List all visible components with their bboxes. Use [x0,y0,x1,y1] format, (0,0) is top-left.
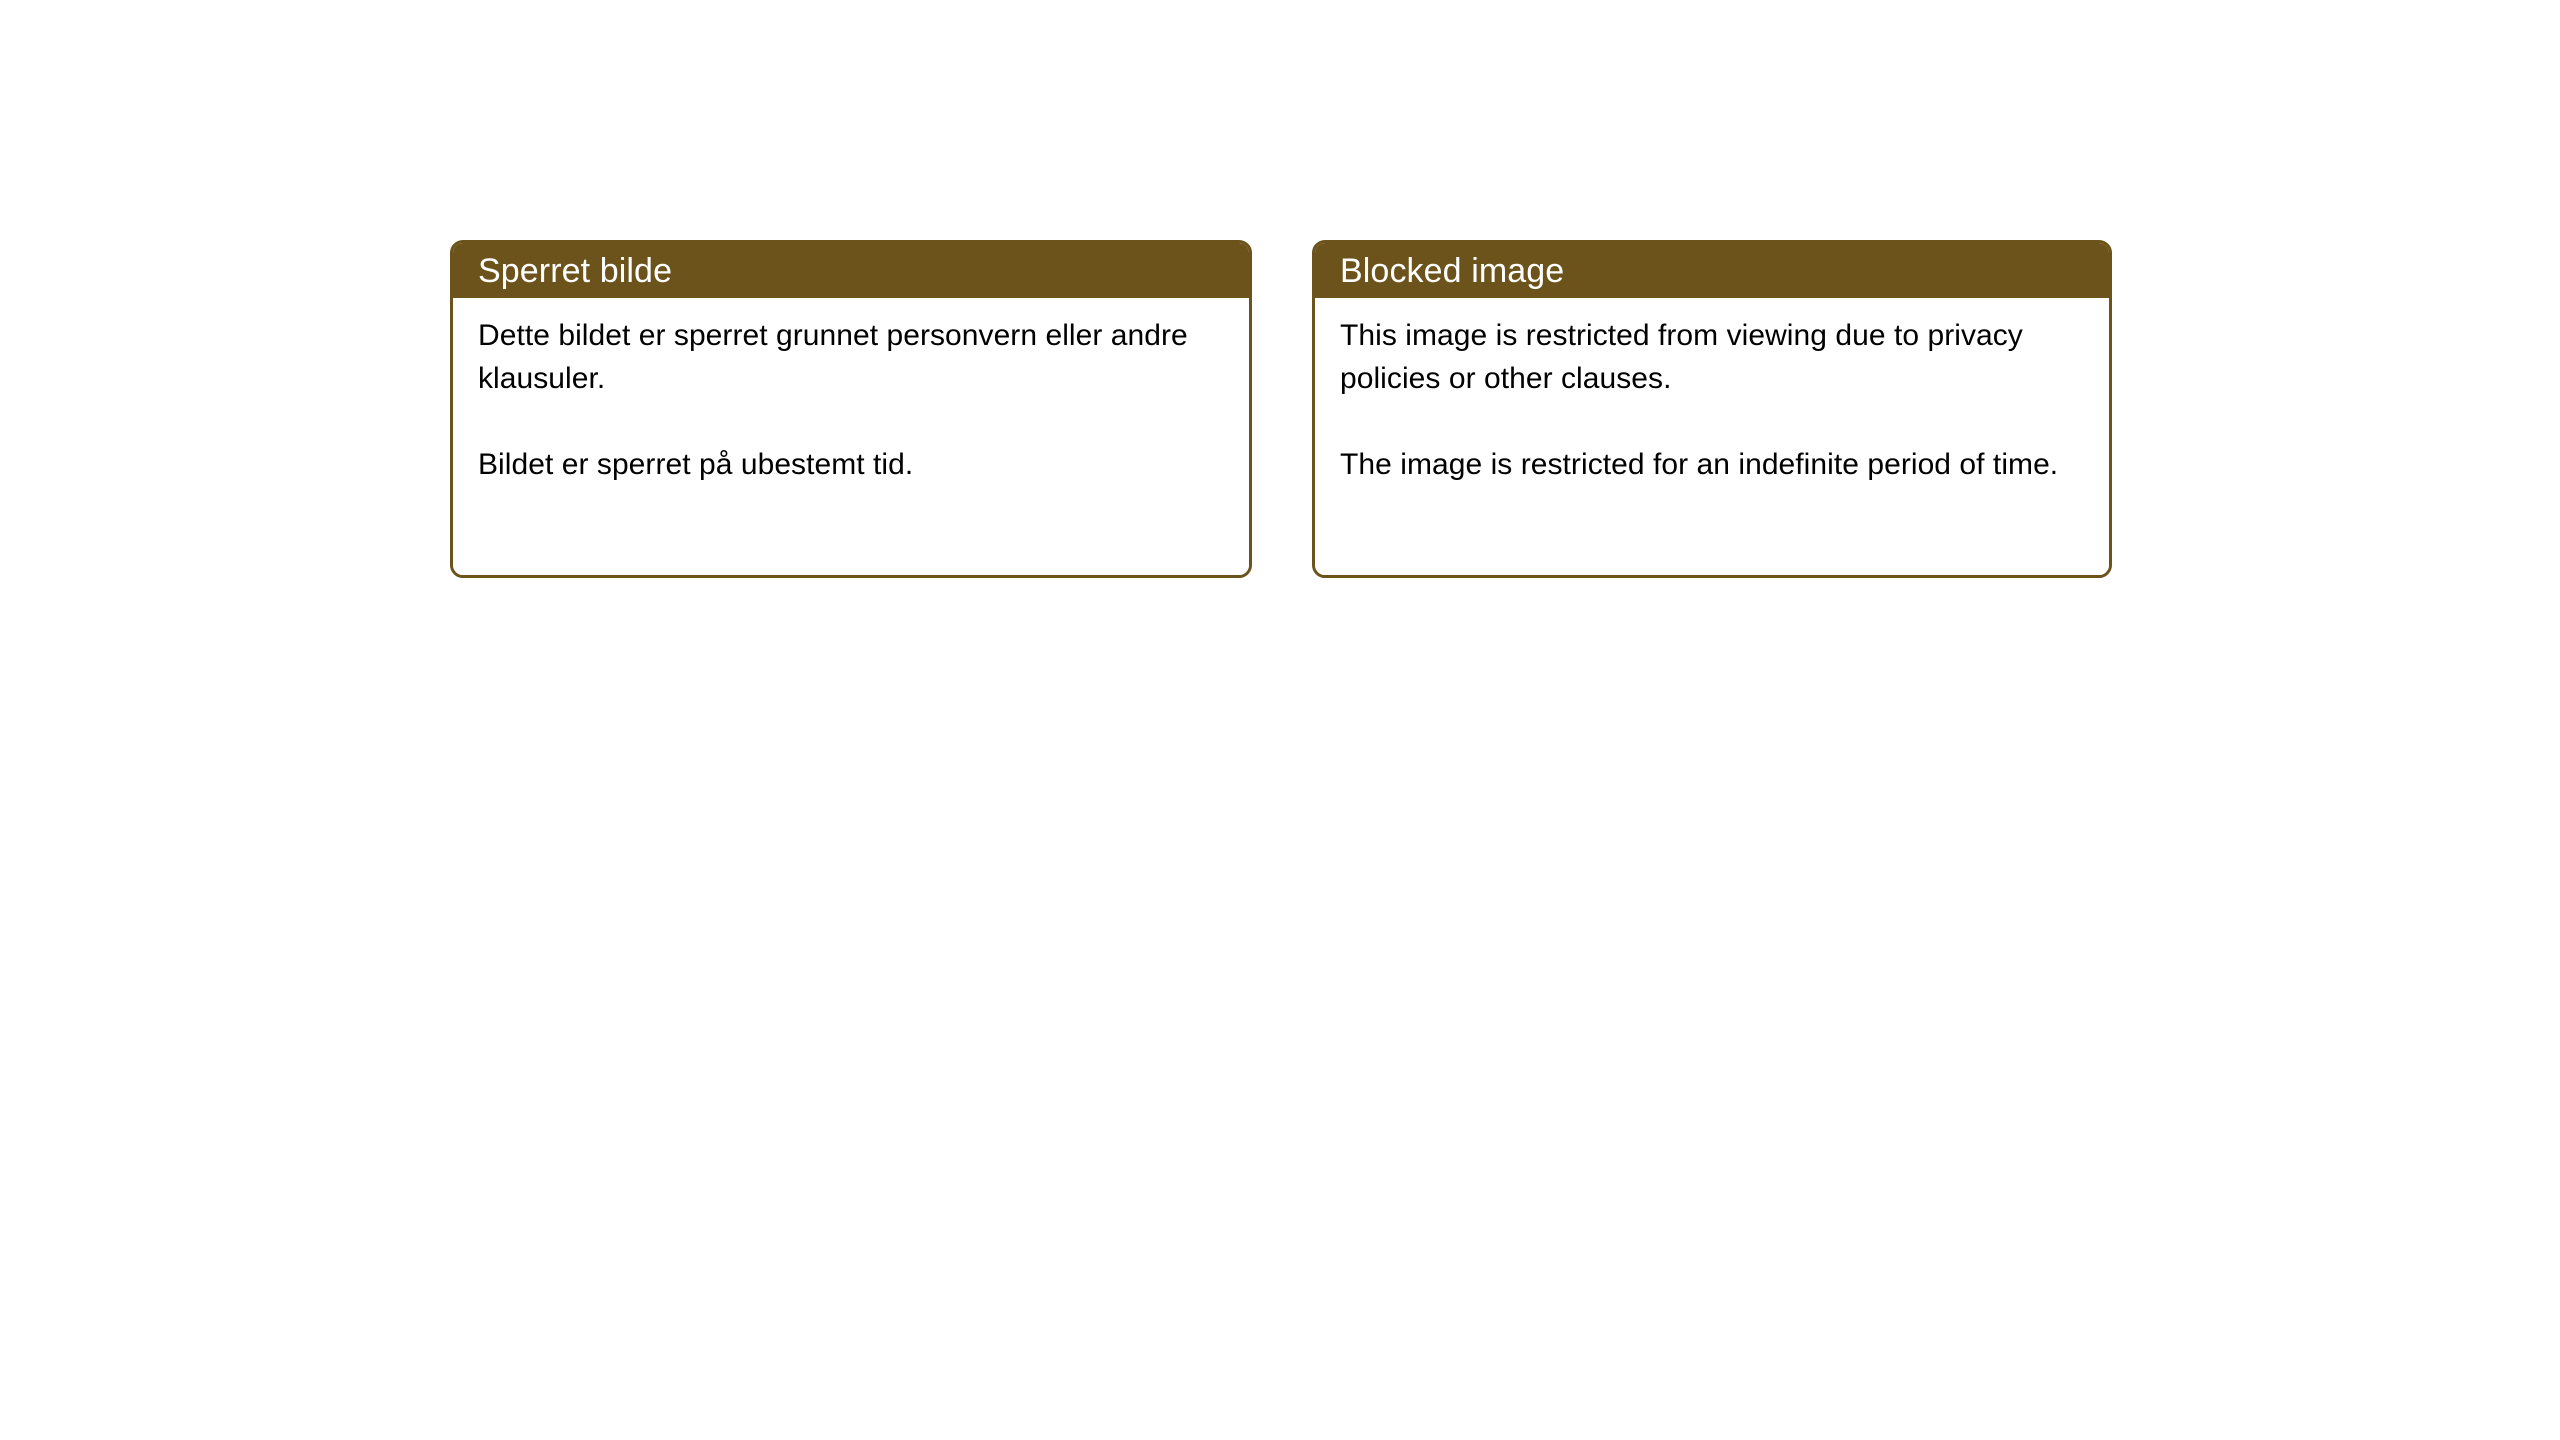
panel-body-no: Dette bildet er sperret grunnet personve… [453,298,1249,575]
blocked-image-notice-en: Blocked image This image is restricted f… [1312,240,2112,578]
panel-header-no: Sperret bilde [453,243,1249,298]
panel-title-en: Blocked image [1340,254,1564,288]
page-canvas: Sperret bilde Dette bildet er sperret gr… [0,0,2560,1440]
blocked-image-notice-no: Sperret bilde Dette bildet er sperret gr… [450,240,1252,578]
panel-paragraph-en-2: The image is restricted for an indefinit… [1340,443,2083,486]
panel-paragraph-no-1: Dette bildet er sperret grunnet personve… [478,314,1223,400]
panel-paragraph-no-2: Bildet er sperret på ubestemt tid. [478,443,1223,486]
panel-body-en: This image is restricted from viewing du… [1315,298,2109,575]
panel-header-en: Blocked image [1315,243,2109,298]
panel-paragraph-en-1: This image is restricted from viewing du… [1340,314,2083,400]
panel-title-no: Sperret bilde [478,254,672,288]
